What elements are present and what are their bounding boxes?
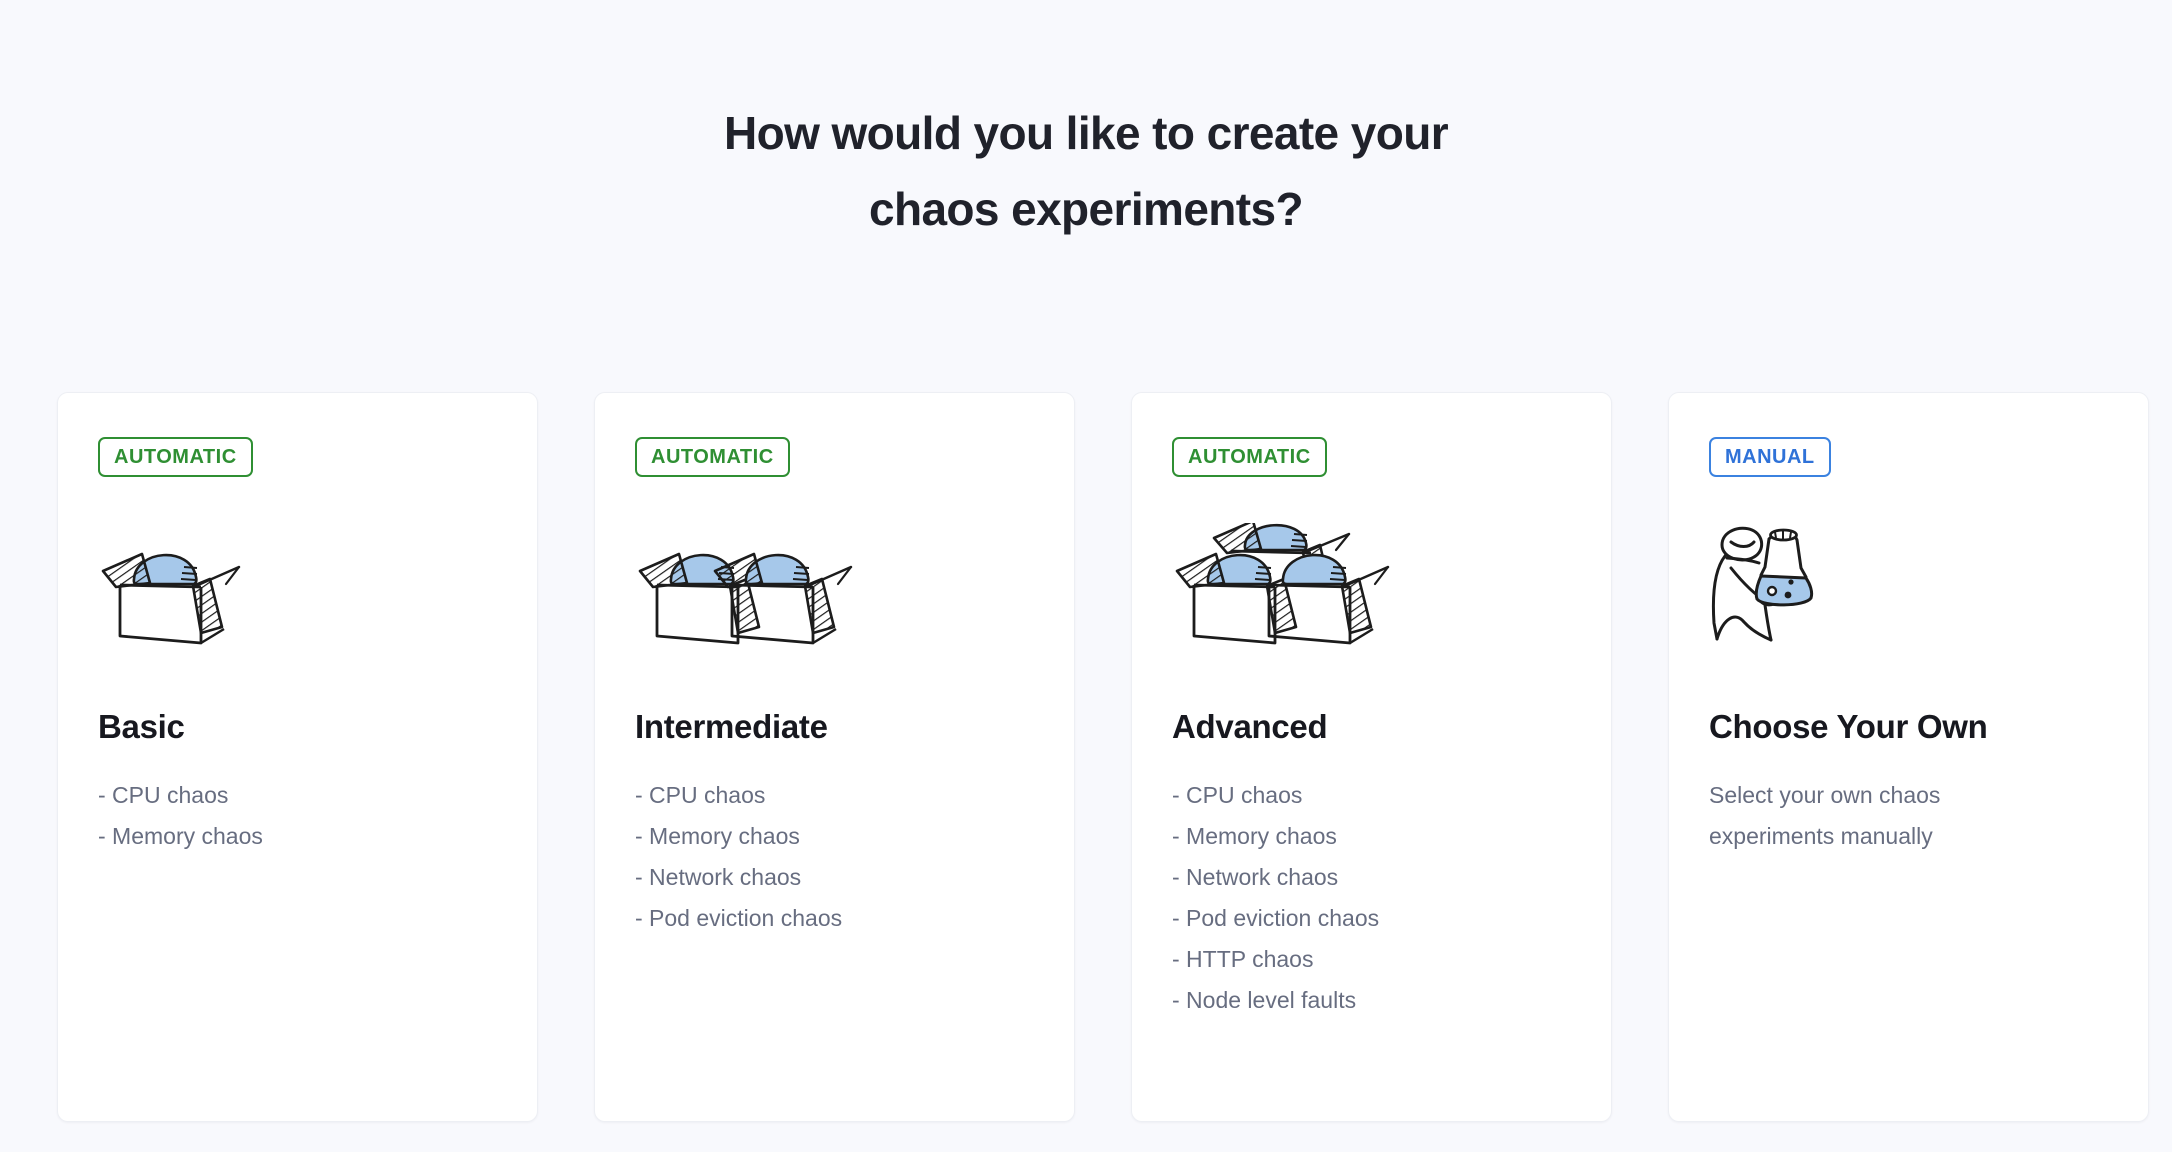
list-item: - Node level faults [1172,980,1571,1021]
scientist-flask-icon [1709,523,2108,647]
list-item: - CPU chaos [635,775,1034,816]
list-item: - Memory chaos [98,816,497,857]
three-boxes-icon [1172,523,1571,647]
page-title-line-1: How would you like to create your [0,95,2172,171]
list-item: - Pod eviction chaos [635,898,1034,939]
card-feature-list-basic: - CPU chaos - Memory chaos [98,775,497,857]
page-title-line-2: chaos experiments? [0,171,2172,247]
badge-automatic: AUTOMATIC [635,437,790,477]
card-feature-list-intermediate: - CPU chaos - Memory chaos - Network cha… [635,775,1034,939]
card-intermediate[interactable]: AUTOMATIC [594,392,1075,1122]
list-item: - HTTP chaos [1172,939,1571,980]
list-item: - Network chaos [635,857,1034,898]
card-advanced[interactable]: AUTOMATIC [1131,392,1612,1122]
list-item: - Network chaos [1172,857,1571,898]
page-title: How would you like to create your chaos … [0,95,2172,247]
list-item: - CPU chaos [1172,775,1571,816]
list-item: - Pod eviction chaos [1172,898,1571,939]
list-item: - Memory chaos [1172,816,1571,857]
card-title-intermediate: Intermediate [635,707,1034,747]
card-description: Select your own chaos experiments manual… [1709,775,2009,857]
card-feature-list-advanced: - CPU chaos - Memory chaos - Network cha… [1172,775,1571,1021]
list-item: - Memory chaos [635,816,1034,857]
card-title-basic: Basic [98,707,497,747]
experiment-mode-card-list: AUTOMATIC [57,392,2149,1122]
two-boxes-icon [635,523,1034,647]
card-title-choose-your-own: Choose Your Own [1709,707,2108,747]
one-box-icon [98,523,497,647]
badge-manual: MANUAL [1709,437,1831,477]
card-title-advanced: Advanced [1172,707,1571,747]
badge-automatic: AUTOMATIC [1172,437,1327,477]
page-root: How would you like to create your chaos … [0,0,2172,1152]
card-basic[interactable]: AUTOMATIC [57,392,538,1122]
list-item: - CPU chaos [98,775,497,816]
card-choose-your-own[interactable]: MANUAL [1668,392,2149,1122]
badge-automatic: AUTOMATIC [98,437,253,477]
